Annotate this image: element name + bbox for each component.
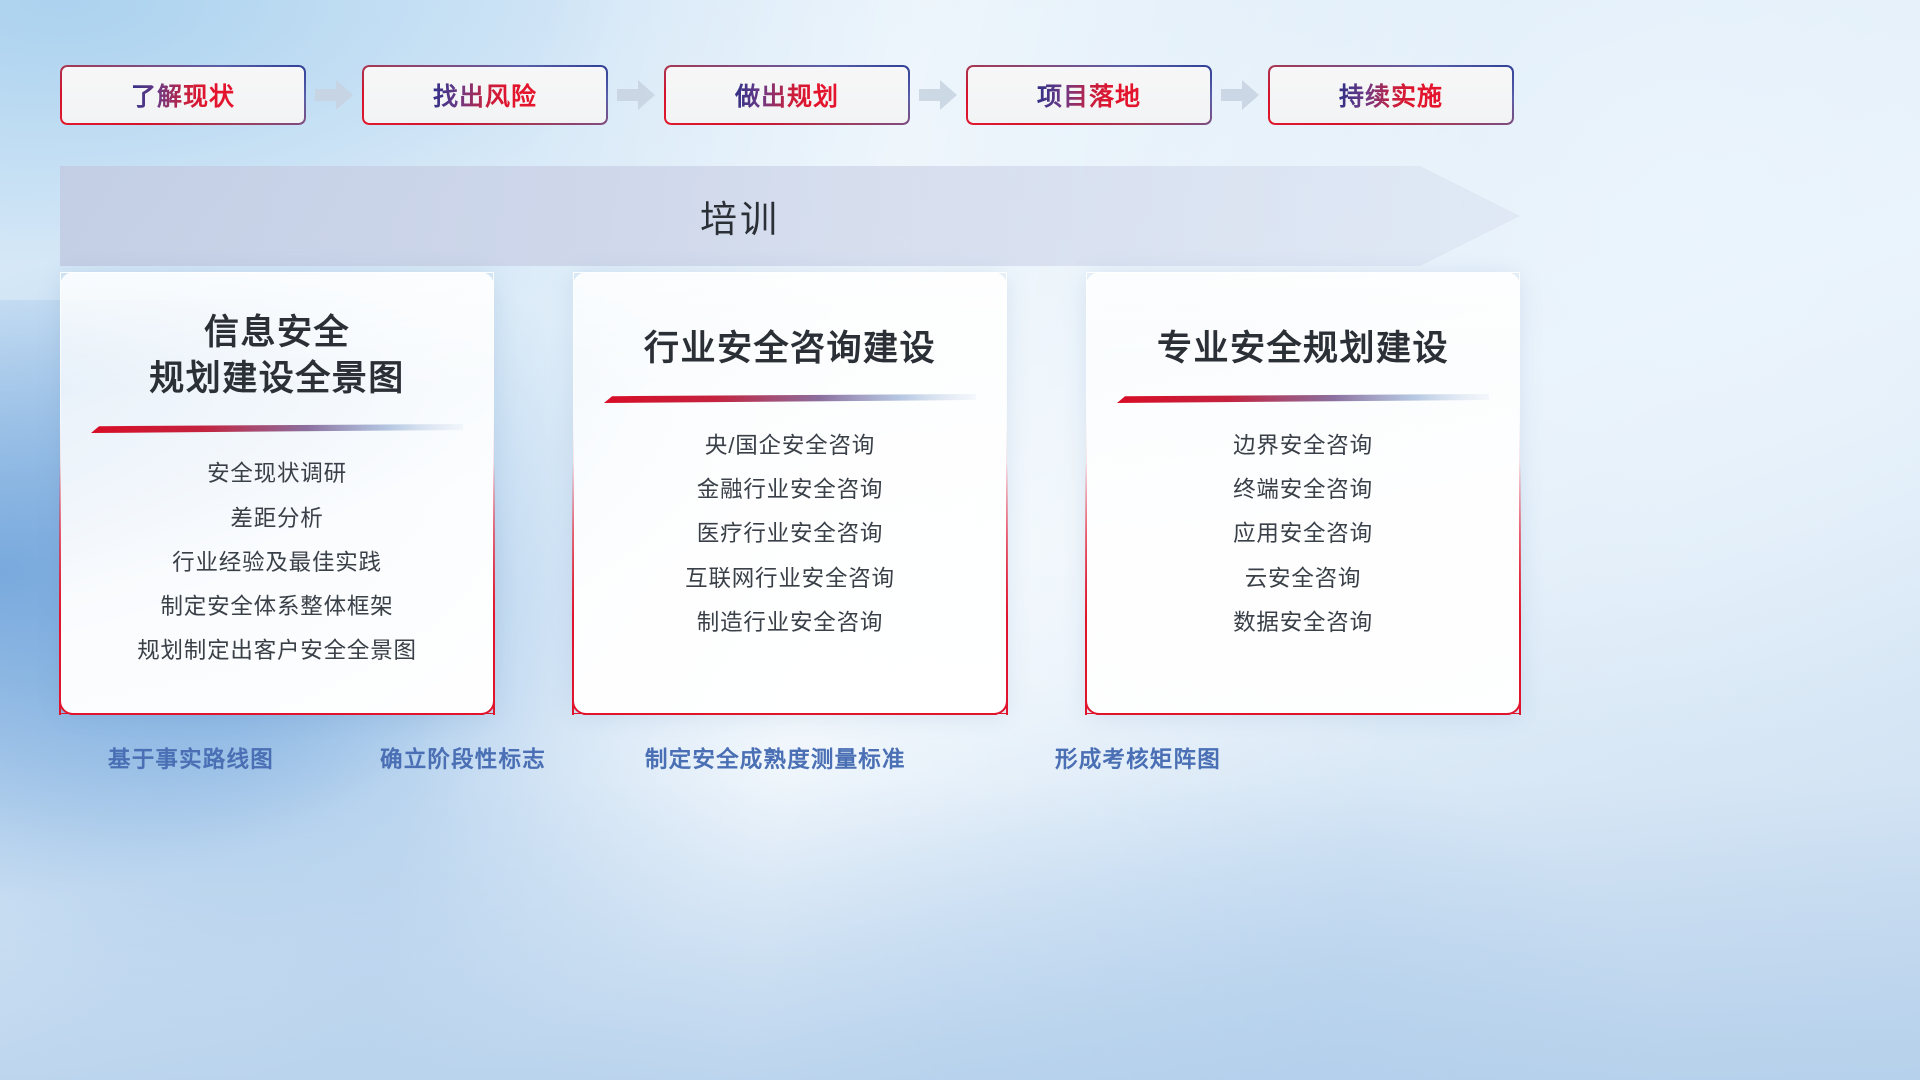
- step-box-5[interactable]: 持续实施: [1268, 65, 1514, 125]
- list-item: 规划制定出客户安全全景图: [137, 637, 417, 665]
- footer-label-1: 基于事实路线图: [108, 742, 274, 774]
- list-item: 制定安全体系整体框架: [160, 593, 393, 621]
- process-step-row: 了解现状 找出风险 做出规划 项目落地: [60, 64, 1520, 126]
- list-item: 医疗行业安全咨询: [697, 520, 883, 548]
- list-item: 云安全咨询: [1245, 565, 1362, 593]
- card-divider-1: [91, 424, 463, 433]
- step-arrow-icon-1: [306, 65, 362, 125]
- list-item: 边界安全咨询: [1233, 432, 1373, 460]
- list-item: 数据安全咨询: [1233, 609, 1373, 637]
- card-list-3: 边界安全咨询 终端安全咨询 应用安全咨询 云安全咨询 数据安全咨询: [1233, 432, 1373, 637]
- footer-label-3: 制定安全成熟度测量标准: [645, 742, 906, 774]
- step-label-2: 找出风险: [433, 77, 537, 113]
- list-item: 金融行业安全咨询: [697, 476, 883, 504]
- step-arrow-icon-3: [910, 65, 966, 125]
- list-item: 央/国企安全咨询: [705, 432, 875, 460]
- list-item: 应用安全咨询: [1233, 520, 1373, 548]
- step-box-2[interactable]: 找出风险: [362, 65, 608, 125]
- step-box-3[interactable]: 做出规划: [664, 65, 910, 125]
- footer-label-2: 确立阶段性标志: [380, 742, 546, 774]
- list-item: 行业经验及最佳实践: [172, 549, 382, 577]
- step-label-1: 了解现状: [131, 77, 235, 113]
- card-industry-consulting[interactable]: 行业安全咨询建设: [573, 272, 1007, 714]
- list-item: 终端安全咨询: [1233, 476, 1373, 504]
- list-item: 安全现状调研: [207, 460, 347, 488]
- list-item: 互联网行业安全咨询: [685, 565, 895, 593]
- card-row: 信息安全 规划建设全景图: [60, 272, 1520, 722]
- step-label-3: 做出规划: [735, 77, 839, 113]
- footer-label-4: 形成考核矩阵图: [1055, 742, 1221, 774]
- card-divider-2: [604, 394, 976, 403]
- step-label-4: 项目落地: [1037, 77, 1141, 113]
- step-box-4[interactable]: 项目落地: [966, 65, 1212, 125]
- card-list-2: 央/国企安全咨询 金融行业安全咨询 医疗行业安全咨询 互联网行业安全咨询 制造行…: [685, 432, 895, 637]
- training-banner: 培训: [60, 166, 1520, 266]
- card-divider-3: [1117, 394, 1489, 403]
- banner-title: 培训: [60, 166, 1420, 266]
- step-arrow-icon-4: [1212, 65, 1268, 125]
- slide-stage: 了解现状 找出风险 做出规划 项目落地: [0, 0, 1920, 1080]
- card-list-1: 安全现状调研 差距分析 行业经验及最佳实践 制定安全体系整体框架 规划制定出客户…: [137, 460, 417, 665]
- list-item: 制造行业安全咨询: [697, 609, 883, 637]
- step-box-1[interactable]: 了解现状: [60, 65, 306, 125]
- list-item: 差距分析: [230, 505, 323, 533]
- card-title-1: 信息安全 规划建设全景图: [149, 310, 405, 402]
- card-professional-planning[interactable]: 专业安全规划建设: [1086, 272, 1520, 714]
- step-arrow-icon-2: [608, 65, 664, 125]
- card-title-2: 行业安全咨询建设: [644, 326, 936, 372]
- card-information-security[interactable]: 信息安全 规划建设全景图: [60, 272, 494, 714]
- card-title-3: 专业安全规划建设: [1157, 326, 1449, 372]
- step-label-5: 持续实施: [1339, 77, 1443, 113]
- footer-label-row: 基于事实路线图 确立阶段性标志 制定安全成熟度测量标准 形成考核矩阵图: [60, 742, 1520, 782]
